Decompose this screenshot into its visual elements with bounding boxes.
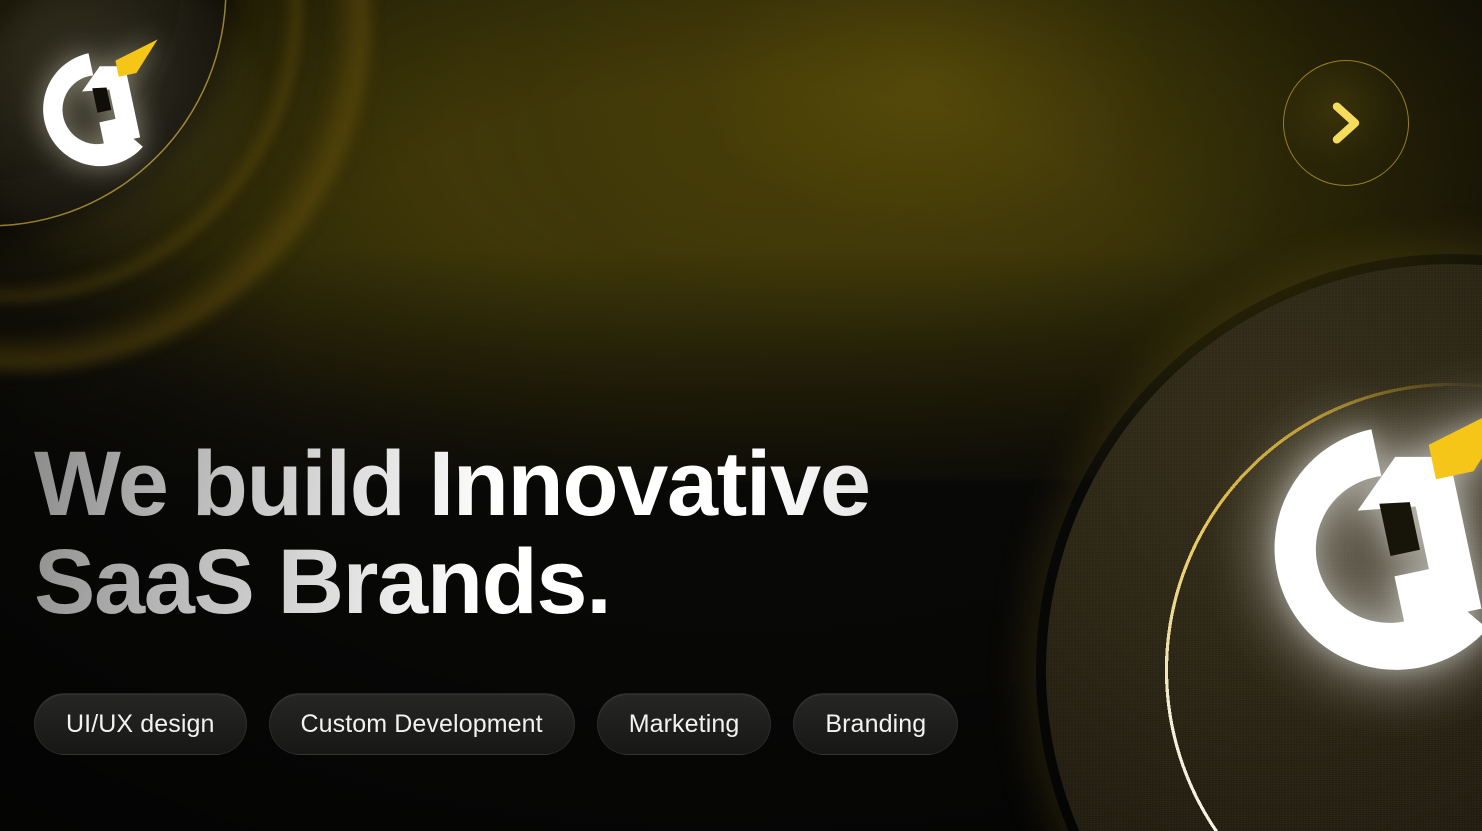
tag-marketing[interactable]: Marketing — [597, 693, 772, 755]
tag-branding[interactable]: Branding — [793, 693, 958, 755]
hero-tag-list: UI/UX design Custom Development Marketin… — [34, 693, 958, 755]
chevron-right-icon — [1324, 97, 1368, 149]
hero-headline: We build Innovative SaaS Brands. — [34, 436, 1034, 631]
brand-logo-small[interactable] — [26, 34, 176, 184]
tag-custom-development[interactable]: Custom Development — [269, 693, 575, 755]
brand-logo-large — [1238, 388, 1482, 708]
hero-section: We build Innovative SaaS Brands. UI/UX d… — [0, 0, 1482, 831]
tag-ui-ux-design[interactable]: UI/UX design — [34, 693, 247, 755]
ethereal-e-logo-icon — [26, 34, 176, 184]
ethereal-e-logo-icon — [1238, 388, 1482, 708]
next-slide-button[interactable] — [1283, 60, 1409, 186]
